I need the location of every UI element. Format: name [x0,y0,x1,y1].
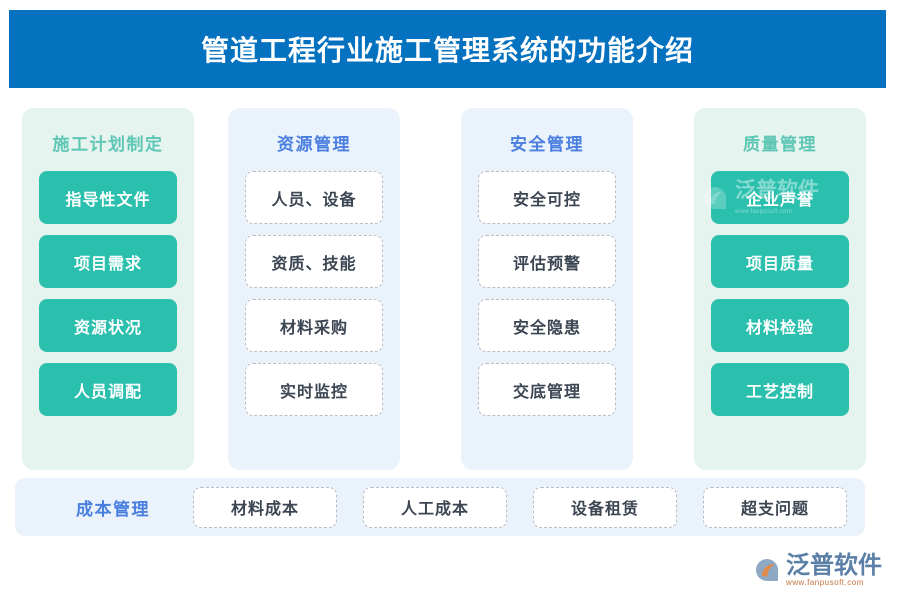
card-stack: 安全可控 评估预警 安全隐患 交底管理 [461,171,633,416]
footer-brand-logo: 泛普软件 www.fanpusoft.com [752,548,892,592]
category-column-safety-management: 安全管理 安全可控 评估预警 安全隐患 交底管理 [461,108,633,470]
cost-management-bar: 成本管理 材料成本 人工成本 设备租赁 超支问题 [15,478,865,536]
fanpu-logo-icon [752,555,782,585]
feature-card[interactable]: 资质、技能 [245,235,383,288]
feature-card[interactable]: 项目需求 [39,235,177,288]
cost-card[interactable]: 材料成本 [193,487,337,528]
logo-brand-name: 泛普软件 [786,554,882,578]
feature-card[interactable]: 交底管理 [478,363,616,416]
card-stack: 企业声誉 项目质量 材料检验 工艺控制 [694,171,866,416]
feature-card[interactable]: 人员、设备 [245,171,383,224]
column-title: 资源管理 [228,130,400,155]
feature-card[interactable]: 材料检验 [711,299,849,352]
bottom-row-title: 成本管理 [33,495,193,520]
category-column-construction-plan: 施工计划制定 指导性文件 项目需求 资源状况 人员调配 [22,108,194,470]
page-title: 管道工程行业施工管理系统的功能介绍 [201,29,694,69]
feature-card[interactable]: 人员调配 [39,363,177,416]
feature-card[interactable]: 项目质量 [711,235,849,288]
cost-card[interactable]: 设备租赁 [533,487,677,528]
cost-card[interactable]: 超支问题 [703,487,847,528]
feature-card[interactable]: 评估预警 [478,235,616,288]
card-stack: 人员、设备 资质、技能 材料采购 实时监控 [228,171,400,416]
logo-text-block: 泛普软件 www.fanpusoft.com [786,554,882,587]
feature-card[interactable]: 工艺控制 [711,363,849,416]
feature-card[interactable]: 企业声誉 [711,171,849,224]
card-stack: 指导性文件 项目需求 资源状况 人员调配 [22,171,194,416]
poster-canvas: 管道工程行业施工管理系统的功能介绍 施工计划制定 指导性文件 项目需求 资源状况… [0,0,900,600]
feature-card[interactable]: 指导性文件 [39,171,177,224]
category-column-resource-management: 资源管理 人员、设备 资质、技能 材料采购 实时监控 [228,108,400,470]
column-title: 施工计划制定 [22,130,194,155]
category-columns: 施工计划制定 指导性文件 项目需求 资源状况 人员调配 资源管理 人员、设备 资… [0,108,900,472]
cost-card[interactable]: 人工成本 [363,487,507,528]
column-title: 质量管理 [694,130,866,155]
category-column-quality-management: 质量管理 企业声誉 项目质量 材料检验 工艺控制 [694,108,866,470]
header-bar: 管道工程行业施工管理系统的功能介绍 [9,10,886,88]
bottom-card-list: 材料成本 人工成本 设备租赁 超支问题 [193,487,847,528]
column-title: 安全管理 [461,130,633,155]
feature-card[interactable]: 资源状况 [39,299,177,352]
logo-url: www.fanpusoft.com [786,579,882,587]
feature-card[interactable]: 安全可控 [478,171,616,224]
feature-card[interactable]: 实时监控 [245,363,383,416]
feature-card[interactable]: 安全隐患 [478,299,616,352]
feature-card[interactable]: 材料采购 [245,299,383,352]
